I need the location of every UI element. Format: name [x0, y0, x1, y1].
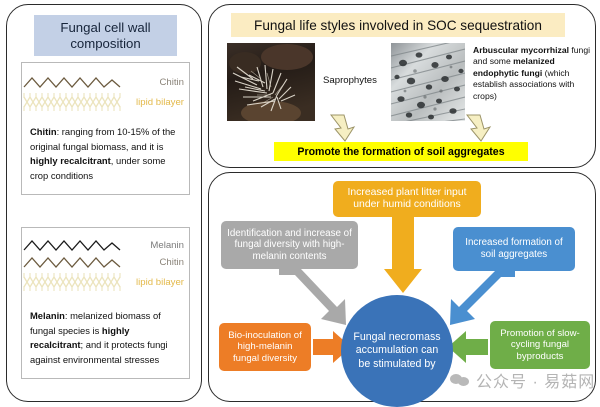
arrow-promotion [448, 331, 488, 363]
box-promotion-slow-cycling[interactable]: Promotion of slow-cycling fungal byprodu… [490, 321, 590, 369]
lipid-bilayer-label: lipid bilayer [136, 277, 184, 288]
lipid-bilayer-row: lipid bilayer [22, 91, 189, 113]
arrow-aggregates [450, 271, 515, 325]
box-increased-plant-litter[interactable]: Increased plant litter input under humid… [333, 181, 481, 217]
chitin-composition-box: Chitin [21, 62, 190, 195]
wechat-logo-icon [450, 372, 470, 388]
soc-sequestration-title: Fungal life styles involved in SOC seque… [231, 13, 565, 37]
chitin-layer-row: Chitin [22, 254, 189, 271]
saprophyte-soil-photo [227, 43, 315, 121]
lipid-bilayer-row: lipid bilayer [22, 271, 189, 293]
chitin-description: Chitin: ranging from 10-15% of the origi… [22, 125, 189, 183]
melanin-composition-box: Melanin Chitin [21, 227, 190, 379]
melanin-description: Melanin: melanized biomass of fungal spe… [22, 309, 189, 367]
saprophytes-caption: Saprophytes [323, 75, 377, 86]
watermark-text: 公众号 · 易菇网 [476, 368, 595, 392]
lipid-bilayer-icon [22, 271, 124, 293]
fungal-life-styles-panel: Fungal life styles involved in SOC seque… [208, 4, 596, 168]
melanin-zigzag-icon [22, 237, 124, 254]
lipid-bilayer-label: lipid bilayer [136, 97, 184, 108]
lipid-bilayer-icon [22, 91, 124, 113]
soil-aggregates-banner: Promote the formation of soil aggregates [274, 142, 528, 161]
mycorrhizal-microscopy-photo [391, 43, 465, 121]
box-identification-fungal-diversity[interactable]: Identification and increase of fungal di… [221, 221, 358, 269]
cell-wall-title: Fungal cell wall composition [34, 15, 177, 56]
melanin-layer-row: Melanin [22, 237, 189, 254]
fungal-necromass-center-circle[interactable]: Fungal necromass accumulation can be sti… [341, 295, 453, 407]
chitin-layer-label: Chitin [159, 77, 184, 88]
box-bio-inoculation[interactable]: Bio-inoculation of high-melanin fungal d… [219, 323, 311, 371]
watermark: 公众号 · 易菇网 [450, 368, 595, 392]
chitin-zigzag-icon [22, 254, 124, 271]
box-increased-soil-aggregates[interactable]: Increased formation of soil aggregates [453, 227, 575, 271]
melanin-layer-diagram: Melanin Chitin [22, 228, 189, 293]
chitin-layer-diagram: Chitin [22, 63, 189, 113]
melanin-layer-label: Melanin [150, 240, 184, 251]
chitin-layer-row: Chitin [22, 74, 189, 91]
chitin-layer-label: Chitin [159, 257, 184, 268]
fungal-cell-wall-panel: Fungal cell wall composition Chitin [6, 4, 202, 402]
mycorrhizal-caption: Arbuscular mycorrhizal fungi and some me… [473, 45, 591, 102]
arrow-identification [279, 269, 346, 325]
arrow-litter-down [384, 217, 422, 293]
chitin-zigzag-icon [22, 74, 124, 91]
